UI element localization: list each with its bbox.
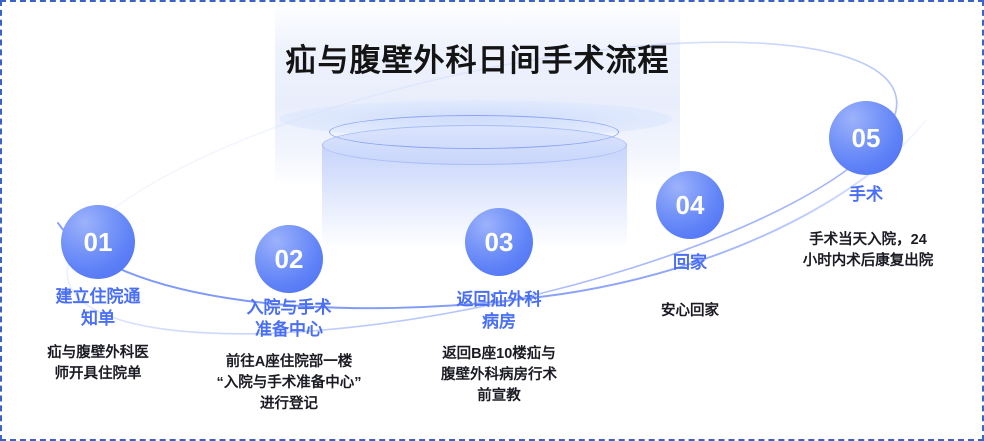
step-03-desc-line2: 腹壁外科病房行术 — [402, 365, 596, 386]
step-03-description: 返回B座10楼疝与 腹壁外科病房行术 前宣教 — [402, 344, 596, 407]
step-05-title-line1: 手术 — [786, 184, 946, 206]
step-02-badge[interactable]: 02 — [255, 225, 323, 293]
step-02-title-line2: 准备中心 — [194, 319, 384, 341]
step-03-desc-line1: 返回B座10楼疝与 — [402, 344, 596, 365]
step-02-description: 前往A座住院部一楼 “入院与手术准备中心” 进行登记 — [186, 352, 392, 415]
step-03-title: 返回疝外科 病房 — [404, 289, 594, 334]
podium-ring-outline — [329, 115, 619, 149]
step-05-badge[interactable]: 05 — [829, 101, 903, 175]
step-02-title: 入院与手术 准备中心 — [194, 297, 384, 342]
page-title: 疝与腹壁外科日间手术流程 — [275, 35, 680, 80]
step-02-title-line1: 入院与手术 — [194, 297, 384, 319]
step-01-title: 建立住院通 知单 — [8, 286, 188, 331]
step-04-badge[interactable]: 04 — [656, 171, 724, 239]
step-04-title-line1: 回家 — [615, 252, 765, 274]
title-backdrop-panel — [275, 2, 680, 187]
step-05-title: 手术 — [786, 184, 946, 206]
step-03-desc-line3: 前宣教 — [402, 386, 596, 407]
infographic-canvas: 疝与腹壁外科日间手术流程 01 建立住院通 知单 疝与腹壁外科医 师开具住院单 … — [0, 0, 984, 441]
step-03-title-line1: 返回疝外科 — [404, 289, 594, 311]
step-01-badge[interactable]: 01 — [61, 205, 135, 279]
step-05-desc-line2: 小时内术后康复出院 — [764, 251, 972, 272]
step-01-description: 疝与腹壁外科医 师开具住院单 — [4, 343, 192, 385]
step-02-desc-line3: 进行登记 — [186, 394, 392, 415]
step-03-badge[interactable]: 03 — [465, 208, 533, 276]
podium-halo-disc — [279, 100, 672, 138]
step-01-desc-line2: 师开具住院单 — [4, 364, 192, 385]
podium-cylinder-top — [322, 125, 627, 165]
step-01-title-line1: 建立住院通 — [8, 286, 188, 308]
step-05-desc-line1: 手术当天入院，24 — [764, 230, 972, 251]
step-02-desc-line2: “入院与手术准备中心” — [186, 373, 392, 394]
step-01-desc-line1: 疝与腹壁外科医 — [4, 343, 192, 364]
step-02-desc-line1: 前往A座住院部一楼 — [186, 352, 392, 373]
step-03-title-line2: 病房 — [404, 311, 594, 333]
step-05-description: 手术当天入院，24 小时内术后康复出院 — [764, 230, 972, 272]
step-01-title-line2: 知单 — [8, 308, 188, 330]
step-04-desc-line1: 安心回家 — [615, 301, 765, 322]
step-04-description: 安心回家 — [615, 301, 765, 322]
step-04-title: 回家 — [615, 252, 765, 274]
